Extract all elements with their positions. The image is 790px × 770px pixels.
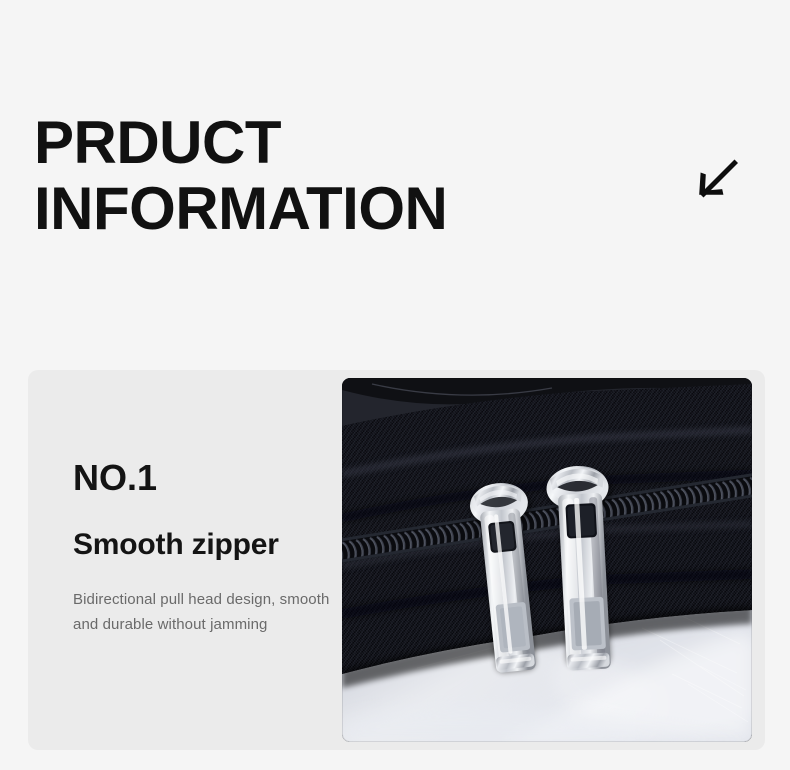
product-feature-card: NO.1 Smooth zipper Bidirectional pull he… — [28, 370, 765, 750]
page-header: PRDUCT INFORMATION — [0, 0, 790, 360]
card-feature-title: Smooth zipper — [73, 528, 341, 562]
page-title: PRDUCT INFORMATION — [34, 110, 634, 242]
card-rank-label: NO.1 — [73, 458, 341, 498]
zipper-product-photo — [342, 378, 752, 742]
arrow-down-left-icon — [694, 156, 740, 202]
card-feature-description: Bidirectional pull head design, smooth a… — [73, 587, 341, 637]
card-text-block: NO.1 Smooth zipper Bidirectional pull he… — [73, 458, 341, 637]
